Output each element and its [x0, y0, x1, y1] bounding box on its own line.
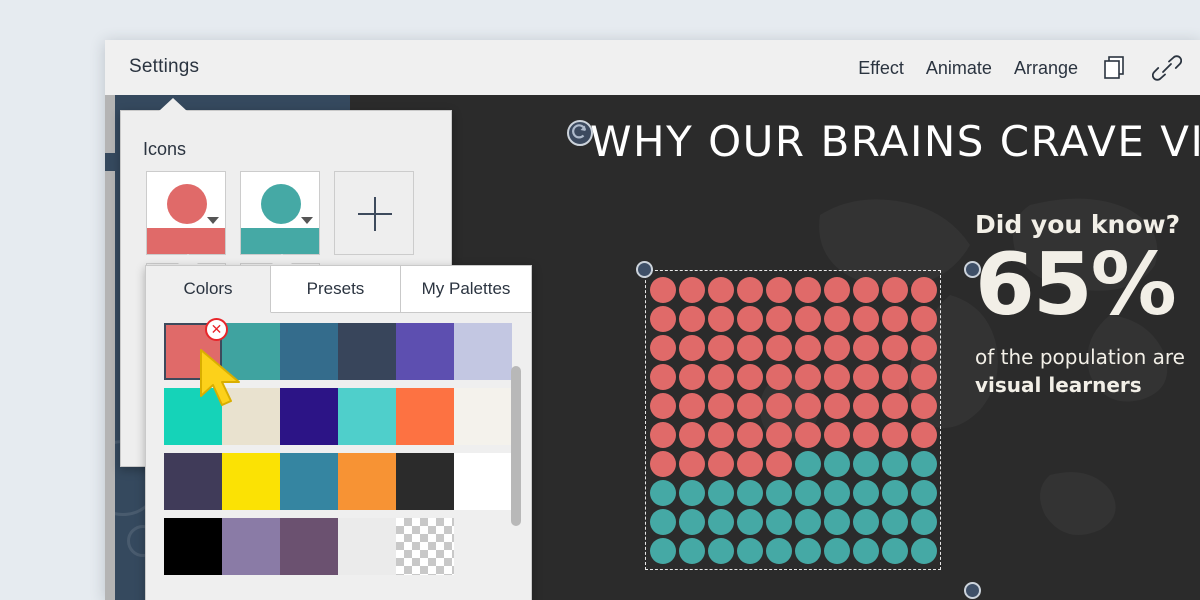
- toolbar-actions: Effect Animate Arrange: [858, 53, 1182, 83]
- resize-handle-top-left[interactable]: [636, 261, 653, 278]
- waffle-dot: [795, 364, 821, 390]
- icon-swatch-red[interactable]: [146, 171, 226, 255]
- color-swatch[interactable]: [164, 518, 222, 575]
- waffle-dot: [766, 277, 792, 303]
- waffle-dot: [853, 538, 879, 564]
- color-swatch[interactable]: [454, 323, 512, 380]
- waffle-dot: [708, 306, 734, 332]
- waffle-dot: [795, 538, 821, 564]
- waffle-dot: [766, 306, 792, 332]
- color-swatch[interactable]: [396, 388, 454, 445]
- tab-colors[interactable]: Colors: [146, 266, 271, 313]
- waffle-dot: [679, 306, 705, 332]
- screen-root: Settings Effect Animate Arrange: [0, 0, 1200, 600]
- waffle-dot: [708, 422, 734, 448]
- color-swatch[interactable]: [396, 453, 454, 510]
- waffle-dot: [679, 422, 705, 448]
- waffle-dot: [679, 480, 705, 506]
- waffle-dot: [853, 451, 879, 477]
- waffle-dot: [766, 335, 792, 361]
- stat-value: 65%: [975, 245, 1200, 327]
- color-bar-red[interactable]: [147, 228, 225, 254]
- waffle-dot: [911, 451, 937, 477]
- waffle-dot: [795, 306, 821, 332]
- colors-popover-tabs: Colors Presets My Palettes: [146, 266, 531, 313]
- waffle-dot: [679, 364, 705, 390]
- waffle-dot: [882, 364, 908, 390]
- color-swatch[interactable]: [338, 388, 396, 445]
- slide-title[interactable]: WHY OUR BRAINS CRAVE VISUA: [590, 117, 1200, 166]
- waffle-dot: [650, 538, 676, 564]
- plus-icon: [374, 197, 376, 231]
- waffle-dot: [795, 480, 821, 506]
- color-swatch[interactable]: [396, 323, 454, 380]
- tab-my-palettes[interactable]: My Palettes: [401, 266, 531, 313]
- waffle-dot: [824, 509, 850, 535]
- palette-row[interactable]: [164, 518, 512, 575]
- waffle-dot: [766, 393, 792, 419]
- waffle-dot: [708, 364, 734, 390]
- top-toolbar: Settings Effect Animate Arrange: [105, 40, 1200, 96]
- color-swatch[interactable]: [454, 388, 512, 445]
- chevron-down-icon[interactable]: [207, 217, 219, 224]
- waffle-dot: [824, 306, 850, 332]
- waffle-dot: [679, 393, 705, 419]
- waffle-dot: [737, 538, 763, 564]
- waffle-dot: [824, 277, 850, 303]
- icons-popover-title: Icons: [143, 139, 186, 160]
- waffle-dot: [824, 480, 850, 506]
- waffle-dot: [708, 509, 734, 535]
- waffle-dot: [911, 364, 937, 390]
- waffle-dot: [679, 335, 705, 361]
- stat-line-1: of the population are: [975, 345, 1200, 369]
- scrollbar-thumb[interactable]: [511, 366, 521, 526]
- waffle-dot: [911, 306, 937, 332]
- color-bar-teal[interactable]: [241, 228, 319, 254]
- waffle-dot: [679, 277, 705, 303]
- waffle-dot: [795, 393, 821, 419]
- waffle-dot: [795, 335, 821, 361]
- waffle-dot: [650, 306, 676, 332]
- waffle-dot: [737, 393, 763, 419]
- mouse-cursor: [198, 348, 254, 415]
- menu-animate[interactable]: Animate: [926, 58, 992, 79]
- color-swatch[interactable]: [164, 453, 222, 510]
- waffle-dot: [853, 335, 879, 361]
- waffle-dot: [766, 422, 792, 448]
- popover-arrow: [159, 98, 187, 111]
- waffle-dot: [882, 335, 908, 361]
- waffle-dot: [650, 480, 676, 506]
- waffle-dot: [650, 451, 676, 477]
- delete-swatch-badge[interactable]: ✕: [205, 318, 228, 341]
- notch-arrow: [178, 254, 198, 264]
- waffle-dot: [853, 277, 879, 303]
- notch-arrow: [272, 254, 292, 264]
- waffle-dot: [708, 451, 734, 477]
- waffle-dot: [766, 538, 792, 564]
- rotate-handle[interactable]: [567, 120, 593, 146]
- colors-popover[interactable]: Colors Presets My Palettes: [145, 265, 532, 600]
- waffle-dot: [882, 393, 908, 419]
- waffle-dot: [650, 364, 676, 390]
- tab-presets[interactable]: Presets: [271, 266, 401, 313]
- waffle-dot: [911, 393, 937, 419]
- color-swatch[interactable]: [338, 323, 396, 380]
- waffle-dot: [882, 451, 908, 477]
- colors-scrollbar[interactable]: [511, 366, 521, 561]
- waffle-dot: [737, 306, 763, 332]
- waffle-dot: [824, 422, 850, 448]
- waffle-dot: [853, 364, 879, 390]
- waffle-dot-grid[interactable]: [650, 277, 940, 567]
- page-title: Settings: [129, 56, 199, 78]
- color-swatch[interactable]: [338, 518, 396, 575]
- color-swatch[interactable]: [454, 453, 512, 510]
- circle-icon-teal: [261, 184, 301, 224]
- waffle-dot: [650, 393, 676, 419]
- icon-tile-list: [146, 171, 414, 255]
- waffle-dot: [882, 306, 908, 332]
- menu-arrange[interactable]: Arrange: [1014, 58, 1078, 79]
- waffle-dot: [882, 422, 908, 448]
- waffle-dot: [853, 509, 879, 535]
- waffle-dot: [911, 480, 937, 506]
- link-icon[interactable]: [1152, 53, 1182, 83]
- waffle-dot: [882, 277, 908, 303]
- waffle-dot: [737, 509, 763, 535]
- add-icon-button[interactable]: [334, 171, 414, 255]
- stat-line-2: visual learners: [975, 373, 1200, 397]
- waffle-dot: [737, 364, 763, 390]
- waffle-dot: [882, 480, 908, 506]
- color-swatch[interactable]: [280, 388, 338, 445]
- waffle-dot: [766, 480, 792, 506]
- waffle-dot: [679, 451, 705, 477]
- duplicate-icon[interactable]: [1100, 53, 1130, 83]
- waffle-dot: [737, 422, 763, 448]
- color-swatch[interactable]: [396, 518, 454, 575]
- waffle-dot: [911, 422, 937, 448]
- waffle-dot: [766, 509, 792, 535]
- waffle-dot: [882, 538, 908, 564]
- waffle-dot: [766, 364, 792, 390]
- color-swatch[interactable]: [338, 453, 396, 510]
- waffle-dot: [795, 451, 821, 477]
- waffle-dot: [650, 509, 676, 535]
- waffle-dot: [650, 277, 676, 303]
- waffle-dot: [824, 451, 850, 477]
- waffle-dot: [911, 277, 937, 303]
- resize-handle-bottom-right[interactable]: [964, 582, 981, 599]
- waffle-dot: [853, 422, 879, 448]
- waffle-dot: [766, 451, 792, 477]
- color-swatch[interactable]: [280, 453, 338, 510]
- waffle-dot: [708, 277, 734, 303]
- chevron-down-icon[interactable]: [301, 217, 313, 224]
- waffle-dot: [737, 451, 763, 477]
- color-swatch[interactable]: [222, 453, 280, 510]
- waffle-dot: [737, 277, 763, 303]
- waffle-dot: [708, 538, 734, 564]
- circle-icon-red: [167, 184, 207, 224]
- waffle-dot: [795, 277, 821, 303]
- palette-row[interactable]: [164, 453, 512, 510]
- waffle-dot: [853, 480, 879, 506]
- waffle-dot: [911, 509, 937, 535]
- waffle-dot: [824, 393, 850, 419]
- waffle-dot: [708, 335, 734, 361]
- icon-swatch-teal[interactable]: [240, 171, 320, 255]
- waffle-dot: [882, 509, 908, 535]
- color-swatch[interactable]: [222, 518, 280, 575]
- waffle-dot: [853, 393, 879, 419]
- stat-text-block[interactable]: Did you know? 65% of the population are …: [975, 210, 1200, 397]
- waffle-dot: [737, 480, 763, 506]
- waffle-dot: [708, 393, 734, 419]
- waffle-dot: [795, 509, 821, 535]
- waffle-dot: [708, 480, 734, 506]
- color-swatch[interactable]: [280, 518, 338, 575]
- waffle-dot: [795, 422, 821, 448]
- waffle-dot: [824, 335, 850, 361]
- menu-effect[interactable]: Effect: [858, 58, 904, 79]
- waffle-dot: [737, 335, 763, 361]
- waffle-dot: [824, 538, 850, 564]
- waffle-dot: [853, 306, 879, 332]
- waffle-dot: [911, 538, 937, 564]
- waffle-dot: [679, 538, 705, 564]
- color-swatch[interactable]: [280, 323, 338, 380]
- waffle-dot: [650, 335, 676, 361]
- waffle-dot: [679, 509, 705, 535]
- waffle-dot: [911, 335, 937, 361]
- waffle-dot: [650, 422, 676, 448]
- waffle-dot: [824, 364, 850, 390]
